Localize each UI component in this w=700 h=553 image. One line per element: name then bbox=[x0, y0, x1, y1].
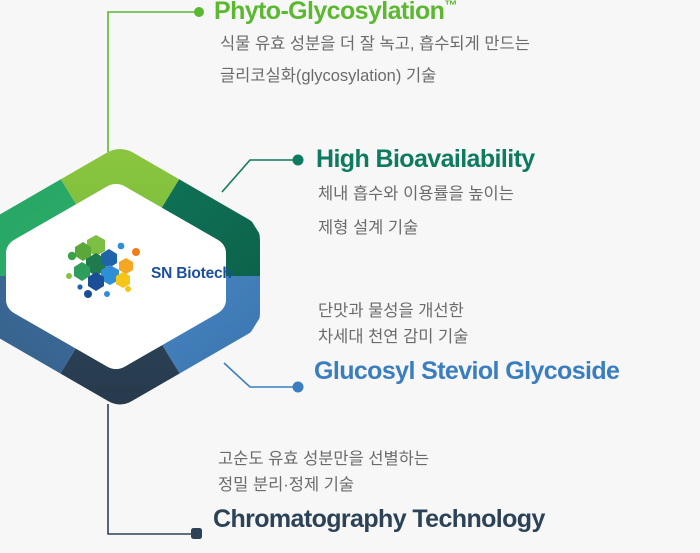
callout-title-text: Phyto-Glycosylation bbox=[214, 0, 444, 25]
callout-desc-line-1: 고순도 유효 성분만을 선별하는 bbox=[218, 446, 545, 472]
callout-desc-line-1: 체내 흡수와 이용률을 높이는 bbox=[318, 181, 535, 207]
callout-desc-line-1: 식물 유효 성분을 더 잘 녹고, 흡수되게 만드는 bbox=[220, 31, 530, 57]
callout-desc-line-2: 글리코실화(glycosylation) 기술 bbox=[220, 63, 530, 89]
connector-glucosyl-steviol-glycoside bbox=[224, 363, 304, 393]
callout-high-bioavailability: High Bioavailability 체내 흡수와 이용률을 높이는 제형 … bbox=[316, 146, 535, 241]
callout-desc-line-2: 제형 설계 기술 bbox=[318, 215, 535, 241]
callout-phyto-glycosylation: Phyto-Glycosylation™ 식물 유효 성분을 더 잘 녹고, 흡… bbox=[214, 0, 530, 89]
callout-glucosyl-steviol-glycoside: 단맛과 물성을 개선한 차세대 천연 감미 기술 Glucosyl Stevio… bbox=[316, 298, 619, 385]
callout-chromatography-technology: 고순도 유효 성분만을 선별하는 정밀 분리·정제 기술 Chromatogra… bbox=[214, 446, 545, 533]
callout-title-high-bioavailability: High Bioavailability bbox=[316, 146, 535, 173]
connector-phyto-glycosylation bbox=[108, 7, 204, 152]
connector-chromatography-technology bbox=[108, 404, 202, 539]
callout-desc-line-2: 정밀 분리·정제 기술 bbox=[218, 472, 545, 498]
connector-high-bioavailability bbox=[222, 155, 304, 193]
callout-title-glucosyl-steviol-glycoside: Glucosyl Steviol Glycoside bbox=[314, 358, 619, 385]
callout-title-chromatography-technology: Chromatography Technology bbox=[213, 506, 545, 533]
callout-title-phyto-glycosylation: Phyto-Glycosylation™ bbox=[214, 0, 530, 25]
callout-desc-line-2: 차세대 천연 감미 기술 bbox=[318, 324, 619, 350]
brand-wordmark: SN Biotech bbox=[151, 265, 232, 282]
infographic-root: SN Biotech Phyto-Glycosylation™ 식물 유효 성분… bbox=[0, 0, 700, 553]
trademark-symbol: ™ bbox=[444, 0, 457, 13]
callout-desc-line-1: 단맛과 물성을 개선한 bbox=[318, 298, 619, 324]
